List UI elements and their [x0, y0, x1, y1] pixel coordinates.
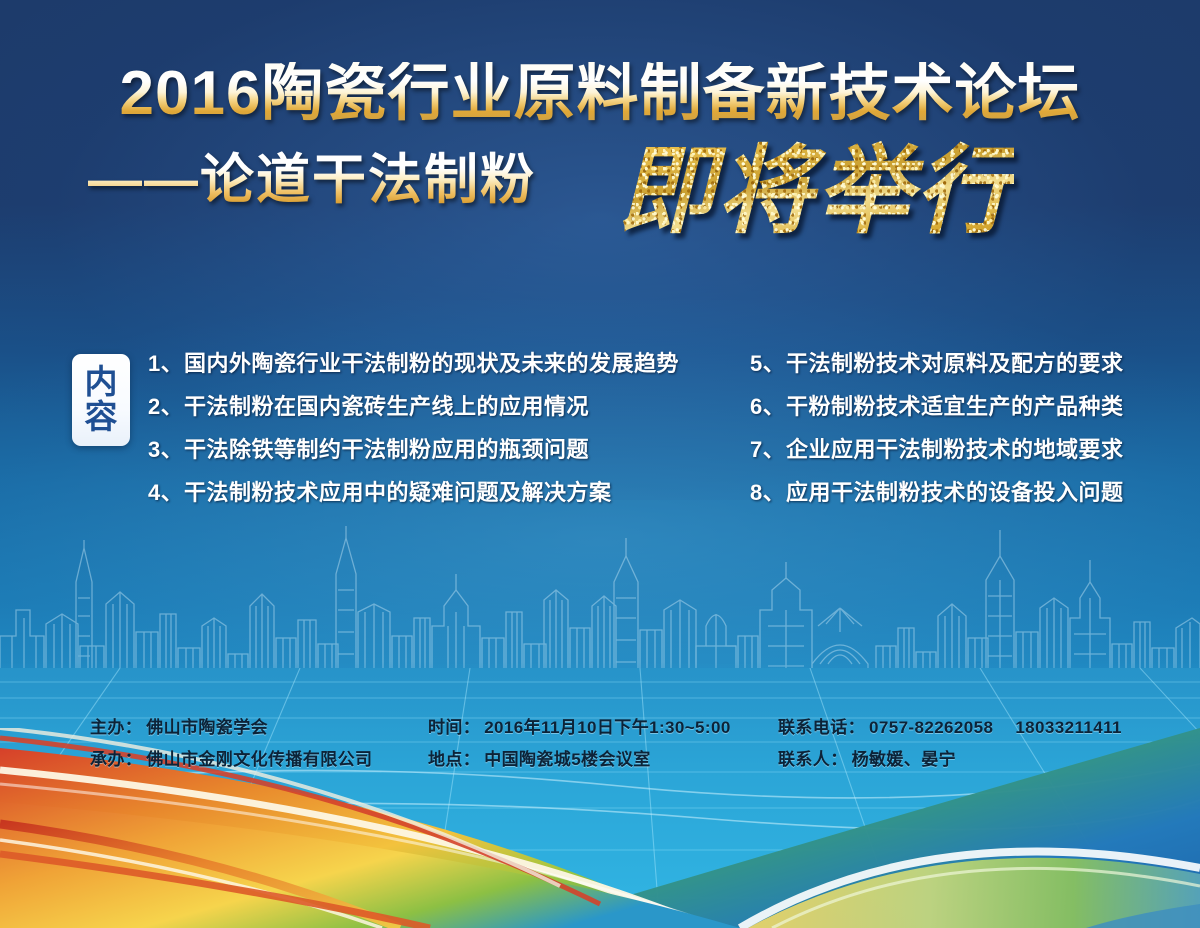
- contact-label: 联系人：: [778, 750, 848, 769]
- agenda-item-text: 干法制粉在国内瓷砖生产线上的应用情况: [184, 389, 589, 421]
- agenda-item-text: 应用干法制粉技术的设备投入问题: [786, 475, 1124, 507]
- footer-time-row: 时间：2016年11月10日下午1:30~5:00: [428, 712, 731, 744]
- poster-headline: 2016陶瓷行业原料制备新技术论坛 ——论道干法制粉 即将举行: [0, 62, 1200, 227]
- place-label: 地点：: [428, 750, 480, 769]
- agenda-section: 内 容 1、 国内外陶瓷行业干法制粉的现状及未来的发展趋势 2、 干法制粉在国内…: [0, 346, 1200, 516]
- agenda-item-number: 1、: [148, 346, 184, 378]
- footer-organizers: 主办：佛山市陶瓷学会 承办：佛山市金刚文化传播有限公司: [90, 712, 372, 776]
- time-label: 时间：: [428, 718, 480, 737]
- organizer-label: 承办：: [90, 750, 142, 769]
- page-subtitle: ——论道干法制粉: [88, 135, 536, 214]
- agenda-item: 7、 企业应用干法制粉技术的地域要求: [750, 432, 1158, 475]
- agenda-item-number: 3、: [148, 432, 184, 464]
- agenda-item-text: 干法制粉技术应用中的疑难问题及解决方案: [184, 475, 612, 507]
- agenda-item: 3、 干法除铁等制约干法制粉应用的瓶颈问题: [148, 432, 728, 475]
- page-title: 2016陶瓷行业原料制备新技术论坛: [0, 62, 1200, 125]
- footer-host-row: 主办：佛山市陶瓷学会: [90, 712, 372, 744]
- footer-organizer-row: 承办：佛山市金刚文化传播有限公司: [90, 744, 372, 776]
- agenda-item-text: 干法制粉技术对原料及配方的要求: [786, 346, 1124, 378]
- footer-contacts: 联系电话：0757-8226205818033211411 联系人：杨敏媛、晏宁: [778, 712, 1122, 776]
- agenda-item: 8、 应用干法制粉技术的设备投入问题: [750, 475, 1158, 518]
- agenda-item-text: 国内外陶瓷行业干法制粉的现状及未来的发展趋势: [184, 346, 679, 378]
- agenda-column-left: 1、 国内外陶瓷行业干法制粉的现状及未来的发展趋势 2、 干法制粉在国内瓷砖生产…: [148, 346, 728, 518]
- water-grid-decoration: [0, 668, 1200, 928]
- footer-contact-row: 联系人：杨敏媛、晏宁: [778, 744, 1122, 776]
- place-value: 中国陶瓷城5楼会议室: [484, 750, 650, 769]
- footer-place-row: 地点：中国陶瓷城5楼会议室: [428, 744, 731, 776]
- agenda-item: 5、 干法制粉技术对原料及配方的要求: [750, 346, 1158, 389]
- phone-label: 联系电话：: [778, 718, 865, 737]
- host-label: 主办：: [90, 718, 142, 737]
- headline-second-line: ——论道干法制粉 即将举行: [0, 131, 1200, 227]
- agenda-item-text: 干法除铁等制约干法制粉应用的瓶颈问题: [184, 432, 589, 464]
- agenda-item-text: 企业应用干法制粉技术的地域要求: [786, 432, 1124, 464]
- event-poster: 2016陶瓷行业原料制备新技术论坛 ——论道干法制粉 即将举行 内 容 1、 国…: [0, 0, 1200, 928]
- agenda-item-number: 8、: [750, 475, 786, 507]
- agenda-item-number: 6、: [750, 389, 786, 421]
- host-value: 佛山市陶瓷学会: [146, 718, 268, 737]
- content-badge: 内 容: [72, 354, 130, 446]
- agenda-columns: 1、 国内外陶瓷行业干法制粉的现状及未来的发展趋势 2、 干法制粉在国内瓷砖生产…: [148, 346, 1158, 518]
- poster-footer: 主办：佛山市陶瓷学会 承办：佛山市金刚文化传播有限公司 时间：2016年11月1…: [0, 712, 1200, 782]
- agenda-item: 6、 干粉制粉技术适宜生产的产品种类: [750, 389, 1158, 432]
- agenda-item-number: 7、: [750, 432, 786, 464]
- organizer-value: 佛山市金刚文化传播有限公司: [146, 750, 372, 769]
- content-badge-char-1: 内: [85, 365, 118, 400]
- phone-value-primary: 0757-82262058: [869, 718, 993, 737]
- agenda-item: 4、 干法制粉技术应用中的疑难问题及解决方案: [148, 475, 728, 518]
- agenda-item-number: 2、: [148, 389, 184, 421]
- agenda-item-number: 4、: [148, 475, 184, 507]
- agenda-column-right: 5、 干法制粉技术对原料及配方的要求 6、 干粉制粉技术适宜生产的产品种类 7、…: [750, 346, 1158, 518]
- content-badge-char-2: 容: [85, 400, 118, 435]
- coming-soon-text: 即将举行: [618, 113, 1014, 252]
- footer-phone-row: 联系电话：0757-8226205818033211411: [778, 712, 1122, 744]
- agenda-item: 1、 国内外陶瓷行业干法制粉的现状及未来的发展趋势: [148, 346, 728, 389]
- agenda-item: 2、 干法制粉在国内瓷砖生产线上的应用情况: [148, 389, 728, 432]
- phone-value-secondary: 18033211411: [1015, 718, 1122, 737]
- time-value: 2016年11月10日下午1:30~5:00: [484, 718, 730, 737]
- contact-value: 杨敏媛、晏宁: [852, 750, 956, 769]
- agenda-item-number: 5、: [750, 346, 786, 378]
- footer-time-place: 时间：2016年11月10日下午1:30~5:00 地点：中国陶瓷城5楼会议室: [428, 712, 731, 776]
- agenda-item-text: 干粉制粉技术适宜生产的产品种类: [786, 389, 1124, 421]
